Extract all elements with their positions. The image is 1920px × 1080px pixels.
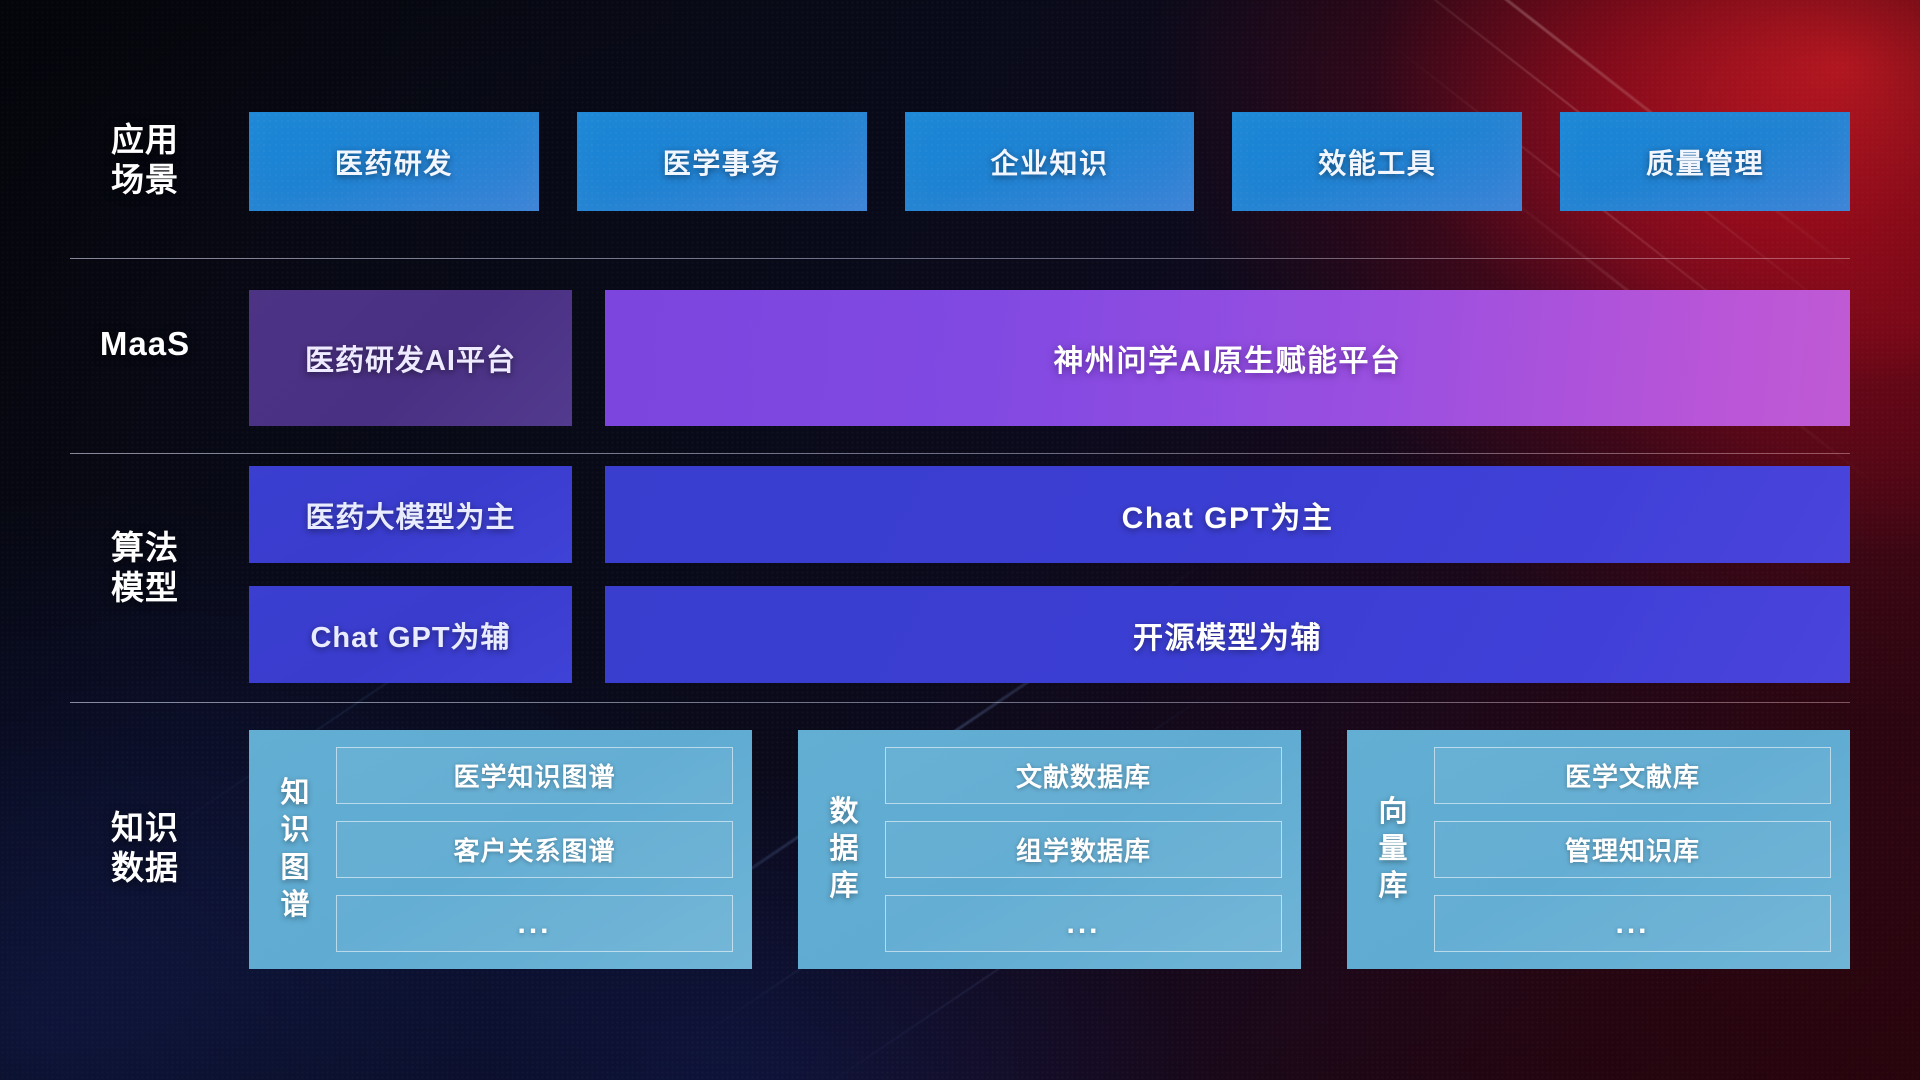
divider-after-application-scenarios [70, 258, 1850, 259]
algo-box-opensource-secondary[interactable]: 开源模型为辅 [605, 586, 1850, 683]
knowledge-item-list-knowledge-graph: 医学知识图谱 客户关系图谱 ... [336, 747, 733, 952]
diagram-canvas: 应用 场景 医药研发 医学事务 企业知识 效能工具 质量管理 MaaS 医药研发… [0, 0, 1920, 1080]
knowledge-group-vector-store[interactable]: 向量库 医学文献库 管理知识库 ... [1347, 730, 1850, 969]
knowledge-item-more-vector-store[interactable]: ... [1434, 895, 1831, 952]
layer-label-knowledge-data: 知识 数据 [70, 808, 220, 889]
architecture-diagram: 应用 场景 医药研发 医学事务 企业知识 效能工具 质量管理 MaaS 医药研发… [0, 0, 1920, 1080]
knowledge-group-label-knowledge-graph: 知识图谱 [268, 747, 322, 952]
scenario-box-efficiency-tools[interactable]: 效能工具 [1232, 112, 1522, 211]
knowledge-item-omics-database[interactable]: 组学数据库 [885, 821, 1282, 878]
algorithm-row-primary: 医药大模型为主 Chat GPT为主 [249, 466, 1850, 563]
layer-body-knowledge-data: 知识图谱 医学知识图谱 客户关系图谱 ... 数据库 文献数据库 组学数据库 .… [249, 730, 1850, 969]
knowledge-group-label-database: 数据库 [817, 747, 871, 952]
knowledge-item-literature-database[interactable]: 文献数据库 [885, 747, 1282, 804]
divider-after-algorithm-models [70, 702, 1850, 703]
divider-after-maas [70, 453, 1850, 454]
knowledge-item-list-database: 文献数据库 组学数据库 ... [885, 747, 1282, 952]
scenario-box-enterprise-knowledge[interactable]: 企业知识 [905, 112, 1195, 211]
maas-box-drug-rnd-ai-platform[interactable]: 医药研发AI平台 [249, 290, 572, 426]
layer-knowledge-data: 知识 数据 知识图谱 医学知识图谱 客户关系图谱 ... 数据库 [70, 730, 1850, 969]
layer-application-scenarios: 应用 场景 医药研发 医学事务 企业知识 效能工具 质量管理 [70, 112, 1850, 212]
knowledge-group-label-vector-store: 向量库 [1366, 747, 1420, 952]
scenario-box-drug-rnd[interactable]: 医药研发 [249, 112, 539, 211]
layer-maas: MaaS 医药研发AI平台 神州问学AI原生赋能平台 [70, 290, 1850, 426]
maas-box-shenzhou-wenxue-platform[interactable]: 神州问学AI原生赋能平台 [605, 290, 1850, 426]
layer-label-maas: MaaS [70, 324, 220, 364]
scenario-box-medical-affairs[interactable]: 医学事务 [577, 112, 867, 211]
layer-body-maas: 医药研发AI平台 神州问学AI原生赋能平台 [249, 290, 1850, 426]
algo-box-chatgpt-secondary[interactable]: Chat GPT为辅 [249, 586, 572, 683]
layer-label-application-scenarios: 应用 场景 [70, 120, 220, 201]
layer-algorithm-models: 算法 模型 医药大模型为主 Chat GPT为主 Chat GPT为辅 开源模型… [70, 466, 1850, 683]
knowledge-item-more-knowledge-graph[interactable]: ... [336, 895, 733, 952]
algo-box-pharma-llm-primary[interactable]: 医药大模型为主 [249, 466, 572, 563]
maas-strip: 医药研发AI平台 神州问学AI原生赋能平台 [249, 290, 1850, 426]
algo-box-chatgpt-primary[interactable]: Chat GPT为主 [605, 466, 1850, 563]
knowledge-item-more-database[interactable]: ... [885, 895, 1282, 952]
application-scenario-strip: 医药研发 医学事务 企业知识 效能工具 质量管理 [249, 112, 1850, 211]
knowledge-group-database[interactable]: 数据库 文献数据库 组学数据库 ... [798, 730, 1301, 969]
knowledge-item-medical-knowledge-graph[interactable]: 医学知识图谱 [336, 747, 733, 804]
scenario-box-quality-management[interactable]: 质量管理 [1560, 112, 1850, 211]
knowledge-item-medical-literature-store[interactable]: 医学文献库 [1434, 747, 1831, 804]
algorithm-row-secondary: Chat GPT为辅 开源模型为辅 [249, 586, 1850, 683]
knowledge-group-knowledge-graph[interactable]: 知识图谱 医学知识图谱 客户关系图谱 ... [249, 730, 752, 969]
knowledge-item-management-knowledge-store[interactable]: 管理知识库 [1434, 821, 1831, 878]
layer-body-algorithm-models: 医药大模型为主 Chat GPT为主 Chat GPT为辅 开源模型为辅 [249, 466, 1850, 683]
layer-label-algorithm-models: 算法 模型 [70, 528, 220, 609]
layer-body-application-scenarios: 医药研发 医学事务 企业知识 效能工具 质量管理 [249, 112, 1850, 211]
knowledge-item-list-vector-store: 医学文献库 管理知识库 ... [1434, 747, 1831, 952]
knowledge-group-strip: 知识图谱 医学知识图谱 客户关系图谱 ... 数据库 文献数据库 组学数据库 .… [249, 730, 1850, 969]
knowledge-item-customer-relation-graph[interactable]: 客户关系图谱 [336, 821, 733, 878]
